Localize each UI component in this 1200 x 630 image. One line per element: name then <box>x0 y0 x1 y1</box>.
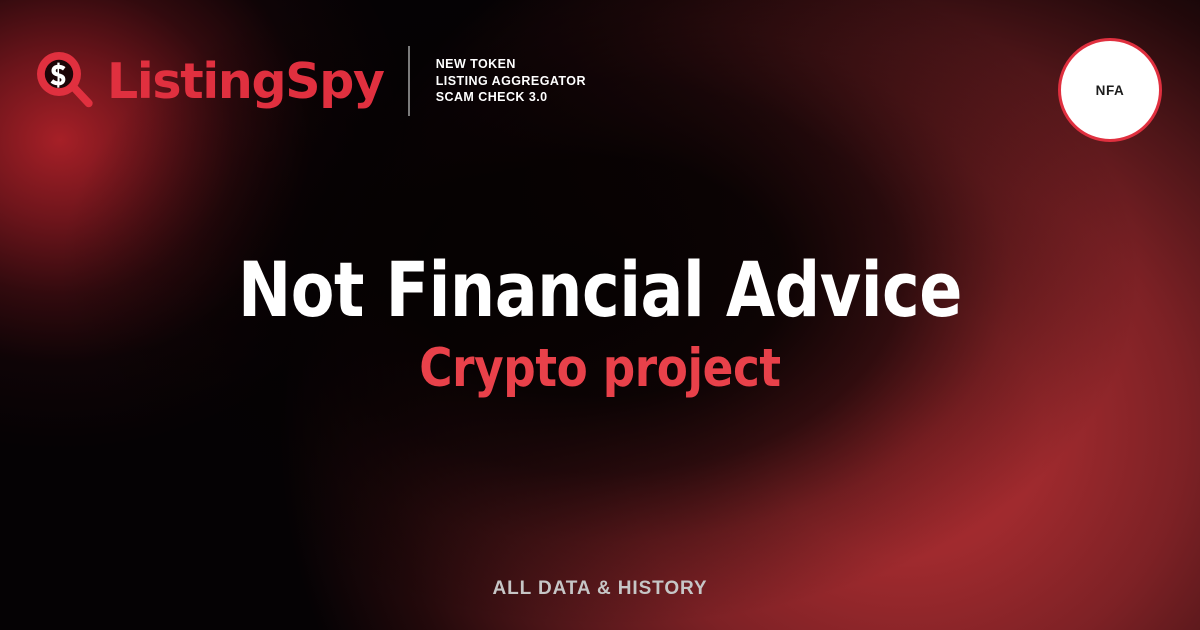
tagline-line-1: NEW TOKEN <box>436 56 586 73</box>
footer: ALL DATA & HISTORY <box>0 578 1200 600</box>
footer-text: ALL DATA & HISTORY <box>493 578 708 599</box>
tagline-line-2: LISTING AGGREGATOR <box>436 73 586 90</box>
nfa-badge: NFA <box>1058 38 1162 142</box>
header-divider <box>408 46 410 116</box>
magnifier-dollar-icon <box>34 50 96 112</box>
brand-logo[interactable]: ListingSpy <box>34 50 384 112</box>
brand-tagline: NEW TOKEN LISTING AGGREGATOR SCAM CHECK … <box>436 56 586 106</box>
page-title: Not Financial Advice <box>42 248 1158 332</box>
brand-wordmark: ListingSpy <box>107 57 384 106</box>
nfa-badge-label: NFA <box>1096 83 1125 98</box>
hero-section: Not Financial Advice Crypto project <box>0 248 1200 400</box>
header: ListingSpy NEW TOKEN LISTING AGGREGATOR … <box>34 46 586 116</box>
brand-wordmark-secondary: Spy <box>285 53 383 110</box>
tagline-line-3: SCAM CHECK 3.0 <box>436 89 586 106</box>
brand-wordmark-primary: Listing <box>107 53 285 110</box>
page-subtitle: Crypto project <box>30 338 1170 400</box>
banner-content: ListingSpy NEW TOKEN LISTING AGGREGATOR … <box>0 0 1200 630</box>
promo-banner: ListingSpy NEW TOKEN LISTING AGGREGATOR … <box>0 0 1200 630</box>
